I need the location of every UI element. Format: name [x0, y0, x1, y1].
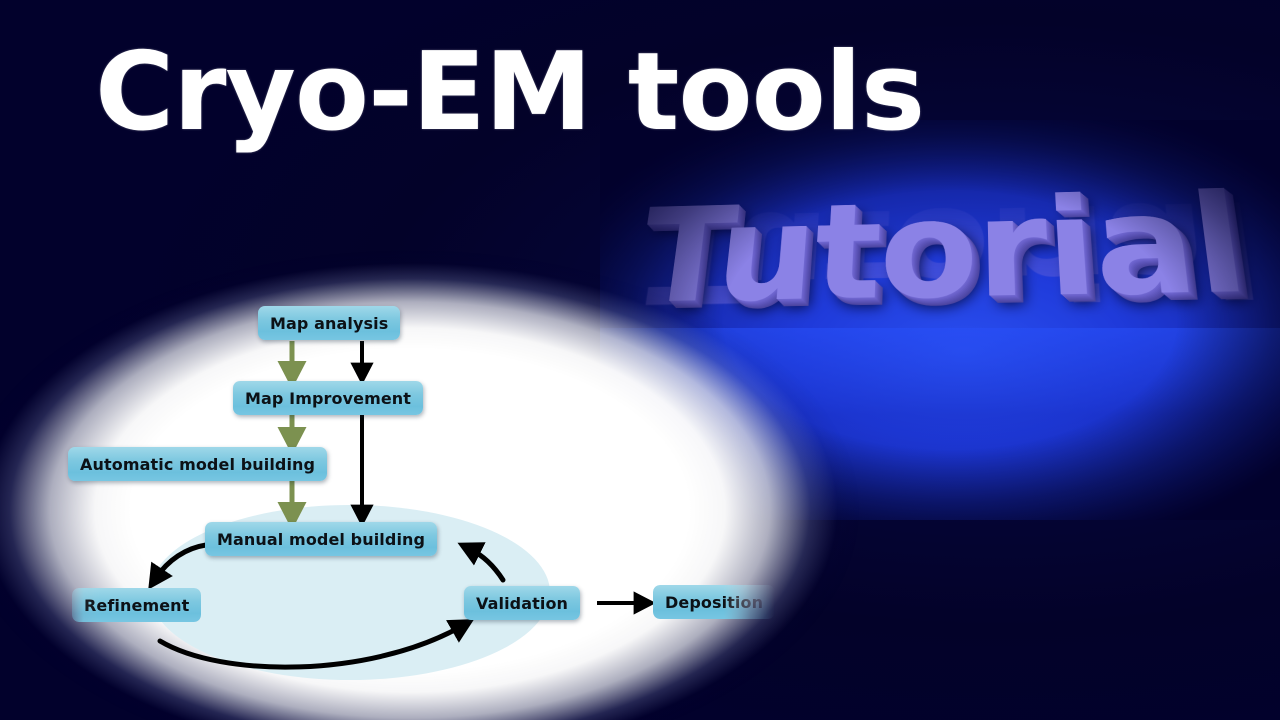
- node-map-analysis[interactable]: Map analysis: [258, 306, 400, 340]
- node-validation[interactable]: Validation: [464, 586, 580, 620]
- node-automatic-model-building[interactable]: Automatic model building: [68, 447, 327, 481]
- node-refinement[interactable]: Refinement: [72, 588, 201, 622]
- slide-title: Cryo-EM tools: [95, 28, 924, 158]
- node-manual-model-building-label: Manual model building: [217, 530, 425, 549]
- node-map-analysis-label: Map analysis: [270, 314, 388, 333]
- node-refinement-label: Refinement: [84, 596, 189, 615]
- node-deposition[interactable]: Deposition: [653, 585, 775, 619]
- slide-canvas: Tutorial Tutorial: [0, 0, 1280, 720]
- node-map-improvement-label: Map Improvement: [245, 389, 411, 408]
- node-validation-label: Validation: [476, 594, 568, 613]
- node-deposition-label: Deposition: [665, 593, 763, 612]
- node-automatic-model-building-label: Automatic model building: [80, 455, 315, 474]
- node-manual-model-building[interactable]: Manual model building: [205, 522, 437, 556]
- node-map-improvement[interactable]: Map Improvement: [233, 381, 423, 415]
